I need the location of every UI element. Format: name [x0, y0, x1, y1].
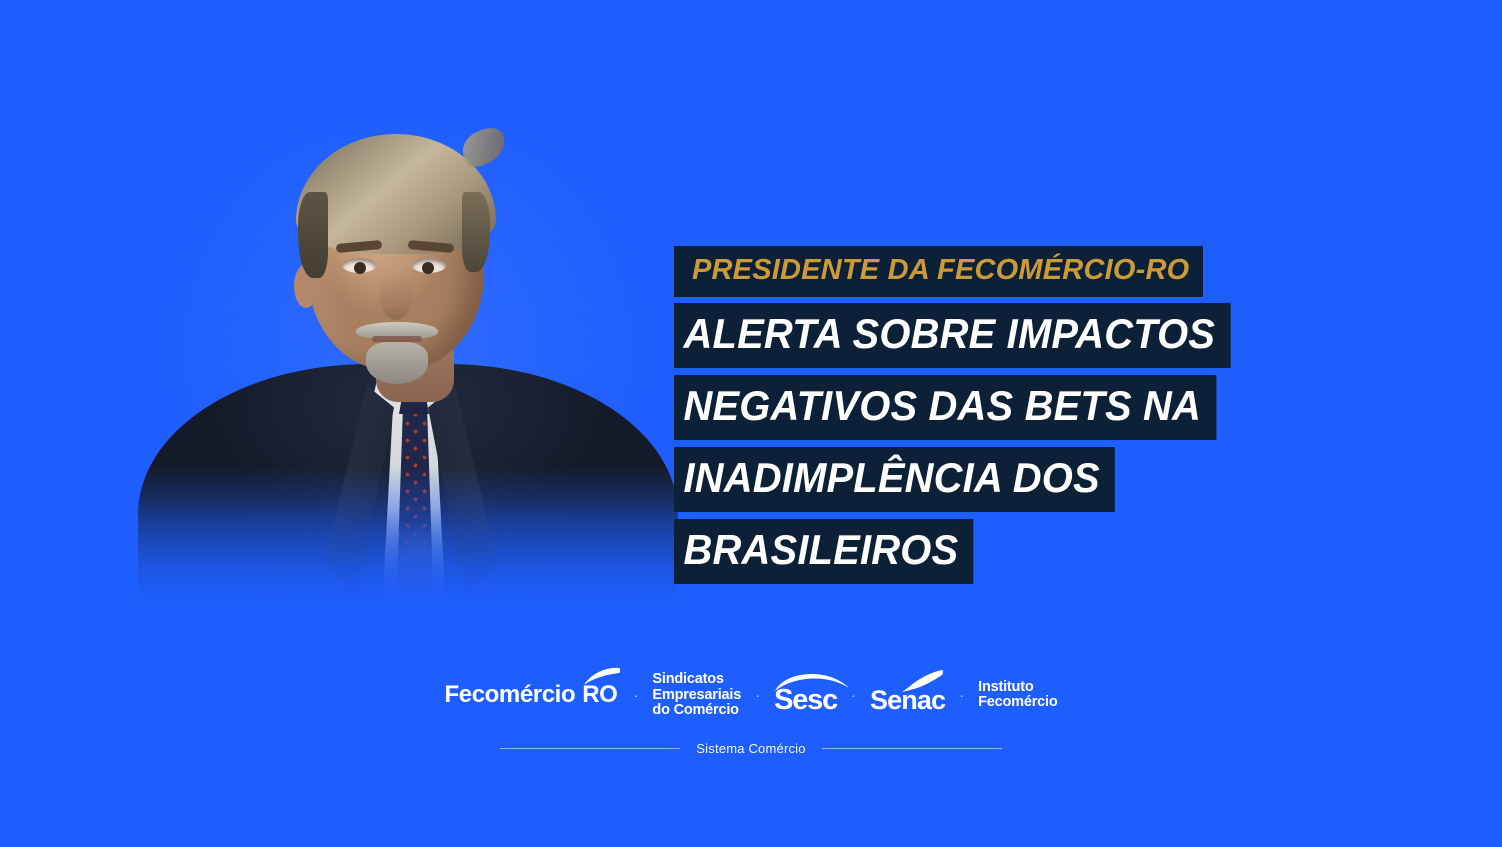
logo-sesc: Sesc [774, 676, 837, 715]
sistema-comercio-label: Sistema Comércio [696, 741, 805, 756]
hair-wisp [458, 124, 510, 170]
logo-senac: Senac [870, 677, 945, 714]
hair-side-right [462, 192, 490, 272]
headline-line-2: NEGATIVOS DAS BETS NA [674, 375, 1216, 440]
sesc-swoosh-icon [774, 672, 850, 692]
hair-side-left [298, 192, 328, 278]
headline-line-1: ALERTA SOBRE IMPACTOS [674, 303, 1230, 368]
logo-separator-3: · [851, 688, 856, 703]
logo-separator-4: · [959, 688, 964, 703]
fecomercio-name: Fecomércio [444, 681, 575, 708]
fecomercio-wordmark: FecomércioRO [444, 683, 619, 707]
logo-fecomercio-ro: FecomércioRO [444, 683, 619, 707]
instituto-line-1: Instituto [978, 680, 1057, 696]
goatee [366, 342, 428, 384]
sindicatos-line-2: Empresariais [652, 688, 741, 704]
headline-line-4: BRASILEIROS [674, 519, 973, 584]
logo-separator-2: · [755, 688, 760, 703]
senac-wordmark: Senac [870, 677, 945, 714]
headline-block: PRESIDENTE DA FECOMÉRCIO-RO ALERTA SOBRE… [674, 246, 1374, 591]
headline-eyebrow: PRESIDENTE DA FECOMÉRCIO-RO [674, 246, 1203, 297]
footer-logo-bar: FecomércioRO · Sindicatos Empresariais d… [0, 672, 1502, 756]
logo-row: FecomércioRO · Sindicatos Empresariais d… [444, 672, 1057, 719]
senac-bird-icon [901, 669, 943, 693]
nose [380, 272, 412, 320]
poster-canvas: PRESIDENTE DA FECOMÉRCIO-RO ALERTA SOBRE… [0, 0, 1502, 847]
headline-line-3: INADIMPLÊNCIA DOS [674, 447, 1115, 512]
sistema-comercio-row: Sistema Comércio [500, 741, 1001, 756]
divider-left [500, 748, 680, 749]
instituto-line-2: Fecomércio [978, 695, 1057, 711]
sindicatos-line-3: do Comércio [652, 703, 741, 719]
logo-separator-1: · [633, 688, 638, 703]
quill-feather-icon [575, 667, 621, 687]
sesc-wordmark: Sesc [774, 676, 837, 715]
portrait-subject [118, 96, 698, 616]
pupil-left [354, 262, 366, 274]
portrait-photo [118, 96, 698, 616]
divider-right [822, 748, 1002, 749]
sindicatos-line-1: Sindicatos [652, 672, 741, 688]
pupil-right [422, 262, 434, 274]
logo-instituto-fecomercio: Instituto Fecomércio [978, 680, 1057, 712]
logo-sindicatos-empresariais: Sindicatos Empresariais do Comércio [652, 672, 741, 719]
